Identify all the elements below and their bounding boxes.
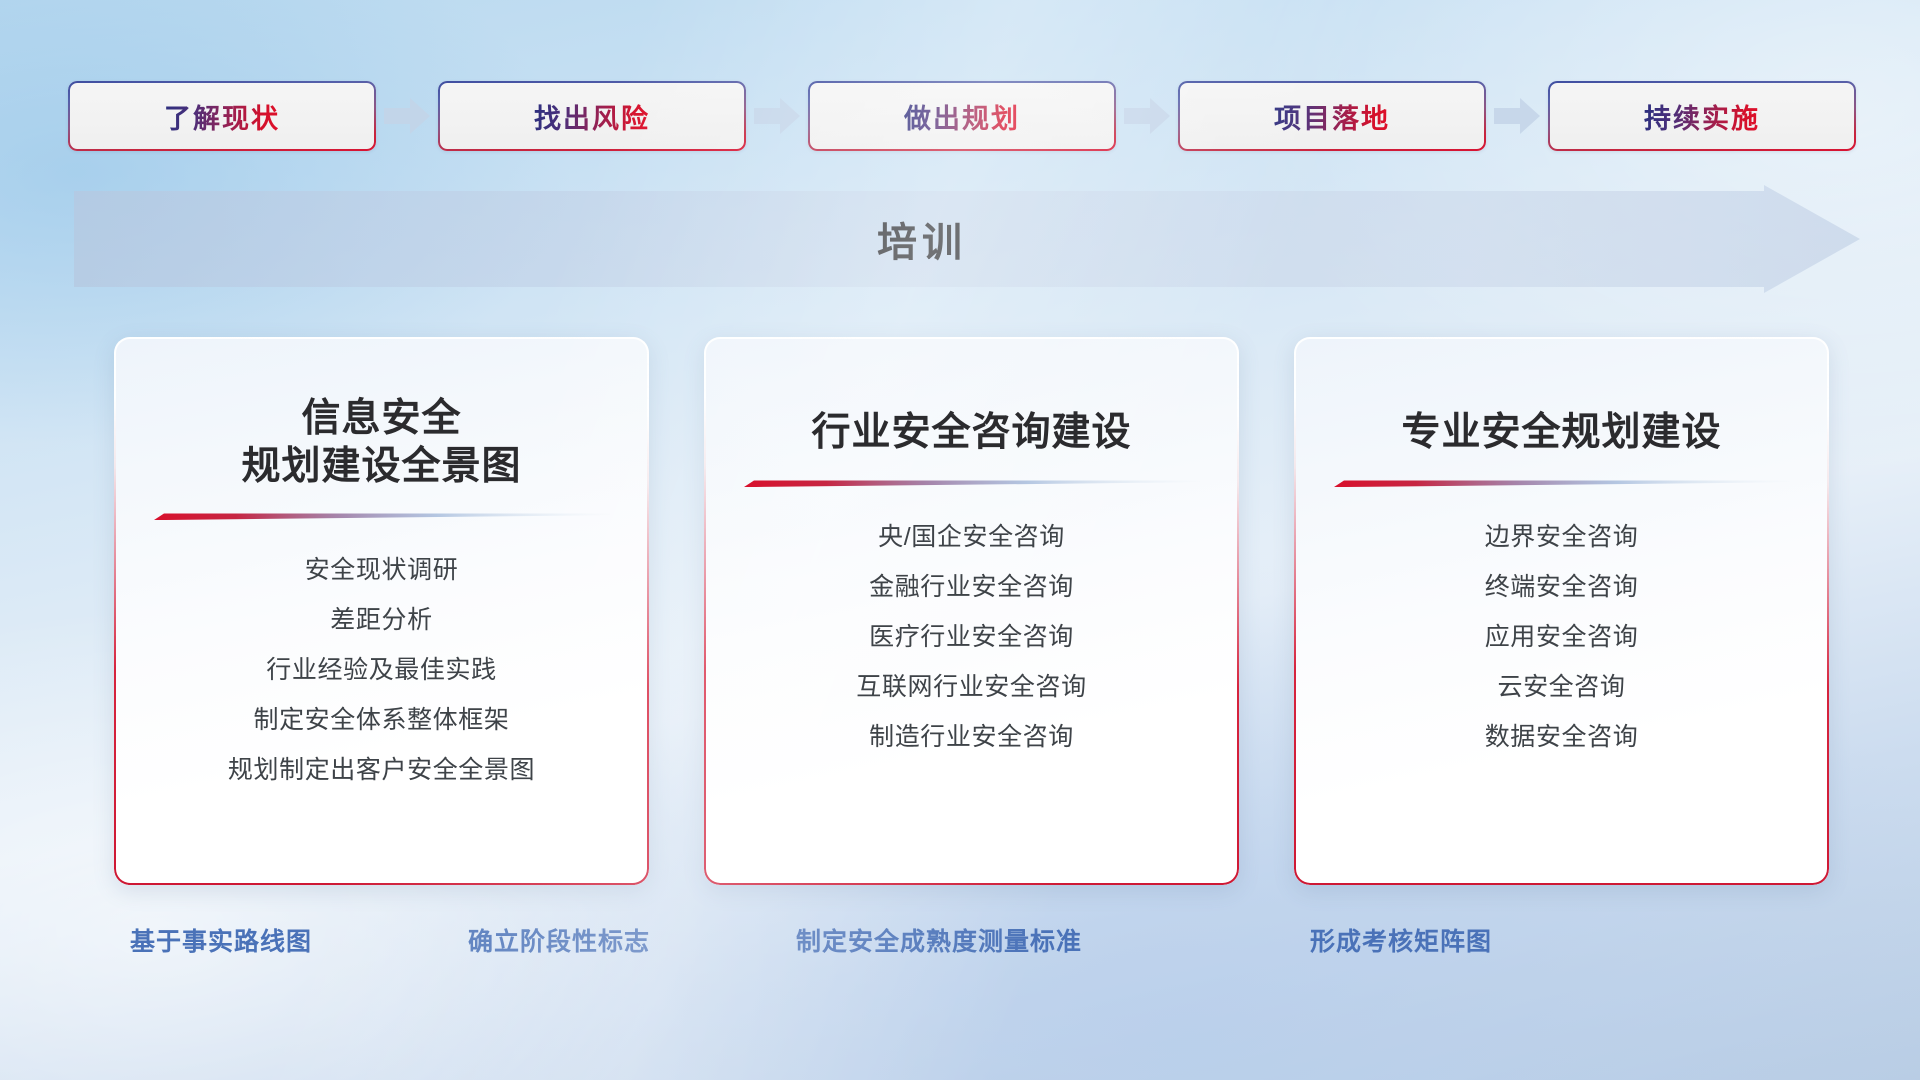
list-item: 安全现状调研 (140, 545, 623, 595)
list-item: 数据安全咨询 (1320, 712, 1803, 762)
list-item: 制造行业安全咨询 (730, 712, 1213, 762)
list-item: 制定安全体系整体框架 (140, 695, 623, 745)
gradient-divider-icon (744, 479, 1200, 488)
step-label: 项目落地 (1274, 97, 1390, 136)
step-label: 持续实施 (1644, 97, 1760, 136)
list-item: 应用安全咨询 (1320, 612, 1803, 662)
banner-label: 培训 (74, 185, 1770, 293)
slide-canvas: 了解现状 找出风险 做出规划 项目落地 (0, 0, 1920, 1080)
step-box-1[interactable]: 了解现状 (68, 81, 376, 151)
card-information-security[interactable]: 信息安全 规划建设全景图 (114, 337, 649, 885)
footer-label-1: 基于事实路线图 (130, 922, 312, 958)
list-item: 云安全咨询 (1320, 662, 1803, 712)
card-item-list: 央/国企安全咨询 金融行业安全咨询 医疗行业安全咨询 互联网行业安全咨询 制造行… (730, 512, 1213, 762)
step-arrow-4 (1486, 94, 1548, 138)
step-label: 了解现状 (164, 97, 280, 136)
card-item-list: 安全现状调研 差距分析 行业经验及最佳实践 制定安全体系整体框架 规划制定出客户… (140, 545, 623, 795)
step-box-5[interactable]: 持续实施 (1548, 81, 1856, 151)
step-box-3[interactable]: 做出规划 (808, 81, 1116, 151)
list-item: 互联网行业安全咨询 (730, 662, 1213, 712)
list-item: 规划制定出客户安全全景图 (140, 745, 623, 795)
card-title: 行业安全咨询建设 (811, 409, 1131, 457)
step-arrow-1 (376, 94, 438, 138)
list-item: 终端安全咨询 (1320, 562, 1803, 612)
step-label: 做出规划 (904, 97, 1020, 136)
gradient-divider-icon (1334, 479, 1790, 488)
step-box-4[interactable]: 项目落地 (1178, 81, 1486, 151)
step-arrow-3 (1116, 94, 1178, 138)
card-item-list: 边界安全咨询 终端安全咨询 应用安全咨询 云安全咨询 数据安全咨询 (1320, 512, 1803, 762)
card-professional-security-planning[interactable]: 专业安全规划建设 (1294, 337, 1829, 885)
step-box-2[interactable]: 找出风险 (438, 81, 746, 151)
step-arrow-2 (746, 94, 808, 138)
gradient-divider-icon (154, 512, 610, 521)
footer-label-2: 确立阶段性标志 (468, 922, 650, 958)
footer-label-3: 制定安全成熟度测量标准 (796, 922, 1082, 958)
card-title: 专业安全规划建设 (1401, 409, 1721, 457)
list-item: 金融行业安全咨询 (730, 562, 1213, 612)
list-item: 差距分析 (140, 595, 623, 645)
list-item: 行业经验及最佳实践 (140, 645, 623, 695)
list-item: 医疗行业安全咨询 (730, 612, 1213, 662)
footer-label-4: 形成考核矩阵图 (1310, 922, 1492, 958)
card-industry-security-consulting[interactable]: 行业安全咨询建设 (704, 337, 1239, 885)
card-row: 信息安全 规划建设全景图 (0, 337, 1920, 885)
process-step-row: 了解现状 找出风险 做出规划 项目落地 (68, 80, 1858, 152)
card-title: 信息安全 规划建设全景图 (241, 395, 521, 490)
list-item: 边界安全咨询 (1320, 512, 1803, 562)
footer-label-row: 基于事实路线图 确立阶段性标志 制定安全成熟度测量标准 形成考核矩阵图 (0, 922, 1920, 966)
list-item: 央/国企安全咨询 (730, 512, 1213, 562)
training-banner: 培训 (74, 185, 1860, 293)
step-label: 找出风险 (534, 97, 650, 136)
